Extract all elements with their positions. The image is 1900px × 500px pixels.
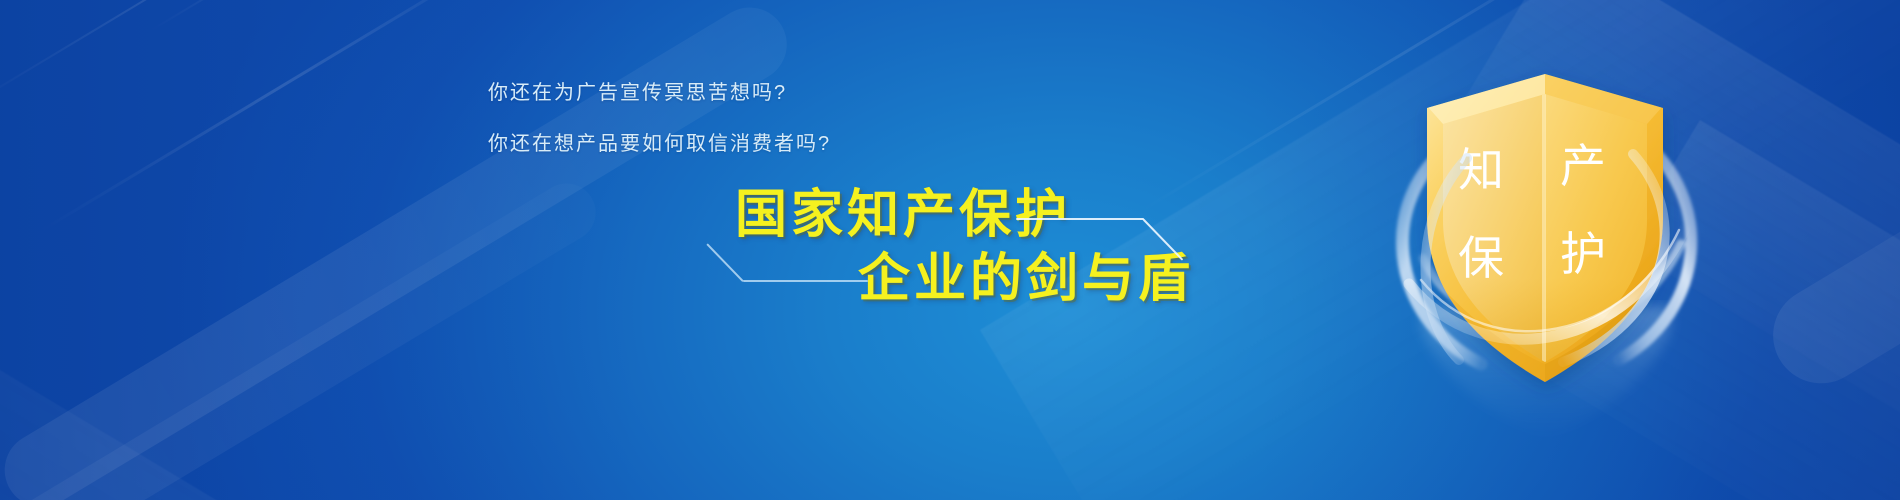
shield-char-bottom-left: 保 xyxy=(1458,232,1504,284)
connector-line-lower-horizontal xyxy=(743,280,868,282)
headline-line-2: 企业的剑与盾 xyxy=(858,236,1194,311)
shield-char-bottom-right: 护 xyxy=(1560,228,1606,280)
shield-char-top-left: 知 xyxy=(1458,144,1504,196)
promo-banner: 你还在为广告宣传冥思苦想吗? 你还在想产品要如何取信消费者吗? 国家知产保护 企… xyxy=(0,0,1900,500)
shield-emblem: 知 产 保 护 xyxy=(1395,48,1695,408)
subtitle-line-1: 你还在为广告宣传冥思苦想吗? xyxy=(488,76,787,105)
connector-line-upper-horizontal xyxy=(1016,218,1144,220)
shield-char-top-right: 产 xyxy=(1560,140,1606,192)
subtitle-line-2: 你还在想产品要如何取信消费者吗? xyxy=(488,127,831,156)
